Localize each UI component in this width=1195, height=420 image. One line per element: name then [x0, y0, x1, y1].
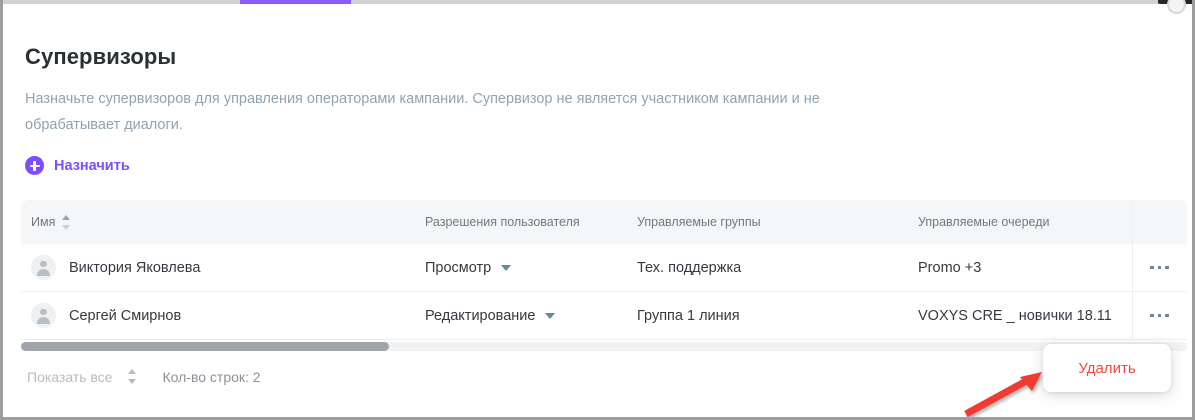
column-header-queues: Управляемые очереди — [918, 215, 1132, 229]
column-header-name[interactable]: Имя — [21, 214, 425, 231]
cell-actions[interactable] — [1132, 308, 1187, 323]
kebab-menu-icon[interactable] — [1146, 260, 1172, 275]
user-avatar-icon — [31, 303, 56, 328]
cell-actions[interactable] — [1132, 260, 1187, 275]
cell-permissions-text: Редактирование — [425, 308, 535, 324]
cell-groups: Тех. поддержка — [637, 260, 918, 276]
table-row[interactable]: Виктория Яковлева Просмотр Тех. поддержк… — [21, 244, 1187, 292]
table-header-row: Имя Разрешения пользователя Управляемые … — [21, 200, 1187, 244]
app-screen: Супервизоры Назначьте супервизоров для у… — [0, 0, 1195, 420]
supervisors-table: Имя Разрешения пользователя Управляемые … — [21, 200, 1187, 340]
cell-permissions[interactable]: Редактирование — [425, 308, 637, 324]
chevron-down-icon[interactable] — [545, 313, 555, 319]
actions-column-divider — [1132, 200, 1133, 338]
cell-name-text: Сергей Смирнов — [69, 308, 181, 324]
page-content: Супервизоры Назначьте супервизоров для у… — [3, 4, 1192, 385]
table-footer: Показать все Кол-во строк: 2 — [27, 368, 1192, 385]
scrollbar-thumb[interactable] — [21, 342, 389, 351]
cell-queues: VOXYS CRE _ новички 18.11 — [918, 308, 1132, 324]
cell-name-text: Виктория Яковлева — [69, 260, 200, 276]
context-menu-item-delete-label: Удалить — [1078, 360, 1135, 377]
column-header-groups: Управляемые группы — [637, 215, 918, 229]
table-horizontal-scrollbar[interactable] — [21, 342, 1187, 351]
context-menu-delete[interactable]: Удалить — [1043, 344, 1171, 392]
page-size-label: Показать все — [27, 369, 112, 385]
table-header-corner — [1177, 200, 1187, 244]
sort-toggle-icon[interactable] — [62, 214, 71, 231]
table-row[interactable]: Сергей Смирнов Редактирование Группа 1 л… — [21, 292, 1187, 340]
chevron-updown-icon[interactable] — [128, 368, 137, 385]
cell-permissions-text: Просмотр — [425, 260, 491, 276]
rows-count-label: Кол-во строк: 2 — [162, 369, 260, 385]
cell-queues: Promo +3 — [918, 260, 1132, 276]
user-avatar-icon — [31, 255, 56, 280]
column-header-permissions: Разрешения пользователя — [425, 215, 637, 229]
cell-name: Виктория Яковлева — [21, 255, 425, 280]
kebab-menu-icon[interactable] — [1146, 308, 1172, 323]
page-description: Назначьте супервизоров для управления оп… — [3, 70, 825, 138]
assign-button-label: Назначить — [54, 158, 130, 174]
page-size-selector[interactable]: Показать все — [27, 368, 137, 385]
assign-supervisor-button[interactable]: Назначить — [3, 138, 130, 175]
plus-circle-icon — [25, 156, 44, 175]
column-header-name-label: Имя — [31, 215, 55, 229]
chevron-down-icon[interactable] — [501, 265, 511, 271]
page-title: Супервизоры — [3, 4, 1192, 70]
cell-name: Сергей Смирнов — [21, 303, 425, 328]
cell-permissions[interactable]: Просмотр — [425, 260, 637, 276]
cell-groups: Группа 1 линия — [637, 308, 918, 324]
